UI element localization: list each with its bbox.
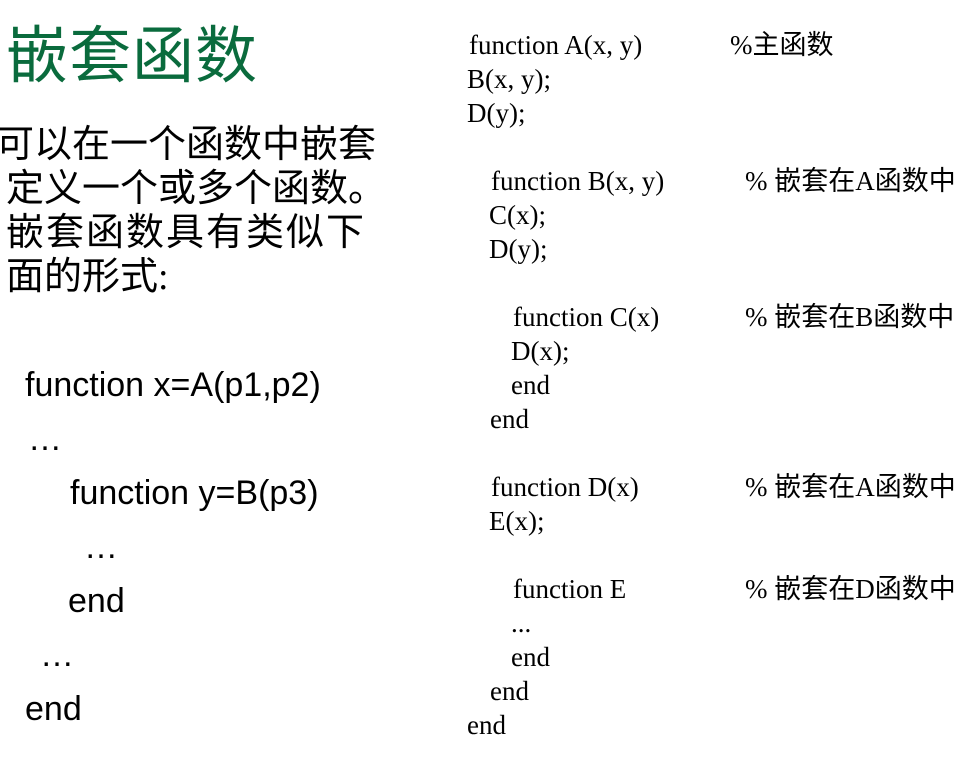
- nested-function-template-code: function x=A(p1,p2)…function y=B(p3)…end…: [0, 358, 452, 736]
- example-code-text: function E: [513, 572, 626, 606]
- example-code-row: end: [455, 674, 970, 708]
- example-code-row: end: [455, 368, 970, 402]
- template-code-line: end: [0, 682, 452, 736]
- template-code-line: …: [0, 412, 452, 466]
- example-code-text: E(x);: [489, 504, 544, 538]
- example-code-comment: % 嵌套在A函数中: [745, 470, 956, 504]
- example-code-text: function C(x): [513, 300, 659, 334]
- example-code-row: end: [455, 640, 970, 674]
- example-code-text: function D(x): [491, 470, 639, 504]
- example-code-comment: % 嵌套在B函数中: [745, 300, 954, 334]
- example-code-row: function D(x)% 嵌套在A函数中: [455, 470, 970, 504]
- body-paragraph: 可以在一个函数中嵌套 定义一个或多个函数。 嵌套函数具有类似下 面的形式:: [0, 123, 452, 299]
- example-code-comment: %主函数: [730, 28, 834, 62]
- example-code-row: D(y);: [455, 232, 970, 300]
- example-code-text: C(x);: [489, 198, 546, 232]
- example-code-row: function E% 嵌套在D函数中: [455, 572, 970, 606]
- template-code-line: function y=B(p3): [0, 466, 452, 520]
- example-code-text: end: [467, 708, 506, 742]
- example-code-row: ...: [455, 606, 970, 640]
- body-line-2: 定义一个或多个函数。: [6, 167, 452, 211]
- example-code-text: B(x, y);: [467, 62, 551, 96]
- example-code-text: end: [490, 402, 529, 436]
- template-code-line: …: [0, 628, 452, 682]
- example-code-text: end: [511, 368, 550, 402]
- example-code-text: D(y);: [489, 232, 547, 266]
- example-code-text: end: [511, 640, 550, 674]
- example-code-text: function B(x, y): [491, 164, 664, 198]
- example-code-row: function C(x)% 嵌套在B函数中: [455, 300, 970, 334]
- page-title: 嵌套函数: [6, 21, 258, 93]
- example-code-text: D(x);: [511, 334, 569, 368]
- template-code-line: function x=A(p1,p2): [0, 358, 452, 412]
- example-code-comment: % 嵌套在A函数中: [745, 164, 956, 198]
- left-column: 嵌套函数 可以在一个函数中嵌套 定义一个或多个函数。 嵌套函数具有类似下 面的形…: [0, 0, 455, 763]
- example-code-row: B(x, y);: [455, 62, 970, 96]
- template-code-line: …: [0, 520, 452, 574]
- example-code-row: function B(x, y)% 嵌套在A函数中: [455, 164, 970, 198]
- example-code-row: E(x);: [455, 504, 970, 572]
- example-code-row: end: [455, 402, 970, 470]
- example-code-text: ...: [511, 606, 531, 640]
- example-code-text: D(y);: [467, 96, 525, 130]
- nested-function-example-code: function A(x, y)%主函数B(x, y);D(y);functio…: [455, 28, 970, 742]
- body-line-3: 嵌套函数具有类似下: [6, 211, 452, 255]
- right-column: function A(x, y)%主函数B(x, y);D(y);functio…: [455, 0, 970, 763]
- example-code-row: function A(x, y)%主函数: [455, 28, 970, 62]
- slide-canvas: 嵌套函数 可以在一个函数中嵌套 定义一个或多个函数。 嵌套函数具有类似下 面的形…: [0, 0, 970, 763]
- example-code-comment: % 嵌套在D函数中: [745, 572, 956, 606]
- example-code-row: end: [455, 708, 970, 742]
- example-code-row: C(x);: [455, 198, 970, 232]
- example-code-text: end: [490, 674, 529, 708]
- template-code-line: end: [0, 574, 452, 628]
- example-code-row: D(y);: [455, 96, 970, 164]
- body-line-4: 面的形式:: [6, 255, 452, 299]
- example-code-text: function A(x, y): [469, 28, 642, 62]
- body-line-1: 可以在一个函数中嵌套: [0, 123, 452, 167]
- example-code-row: D(x);: [455, 334, 970, 368]
